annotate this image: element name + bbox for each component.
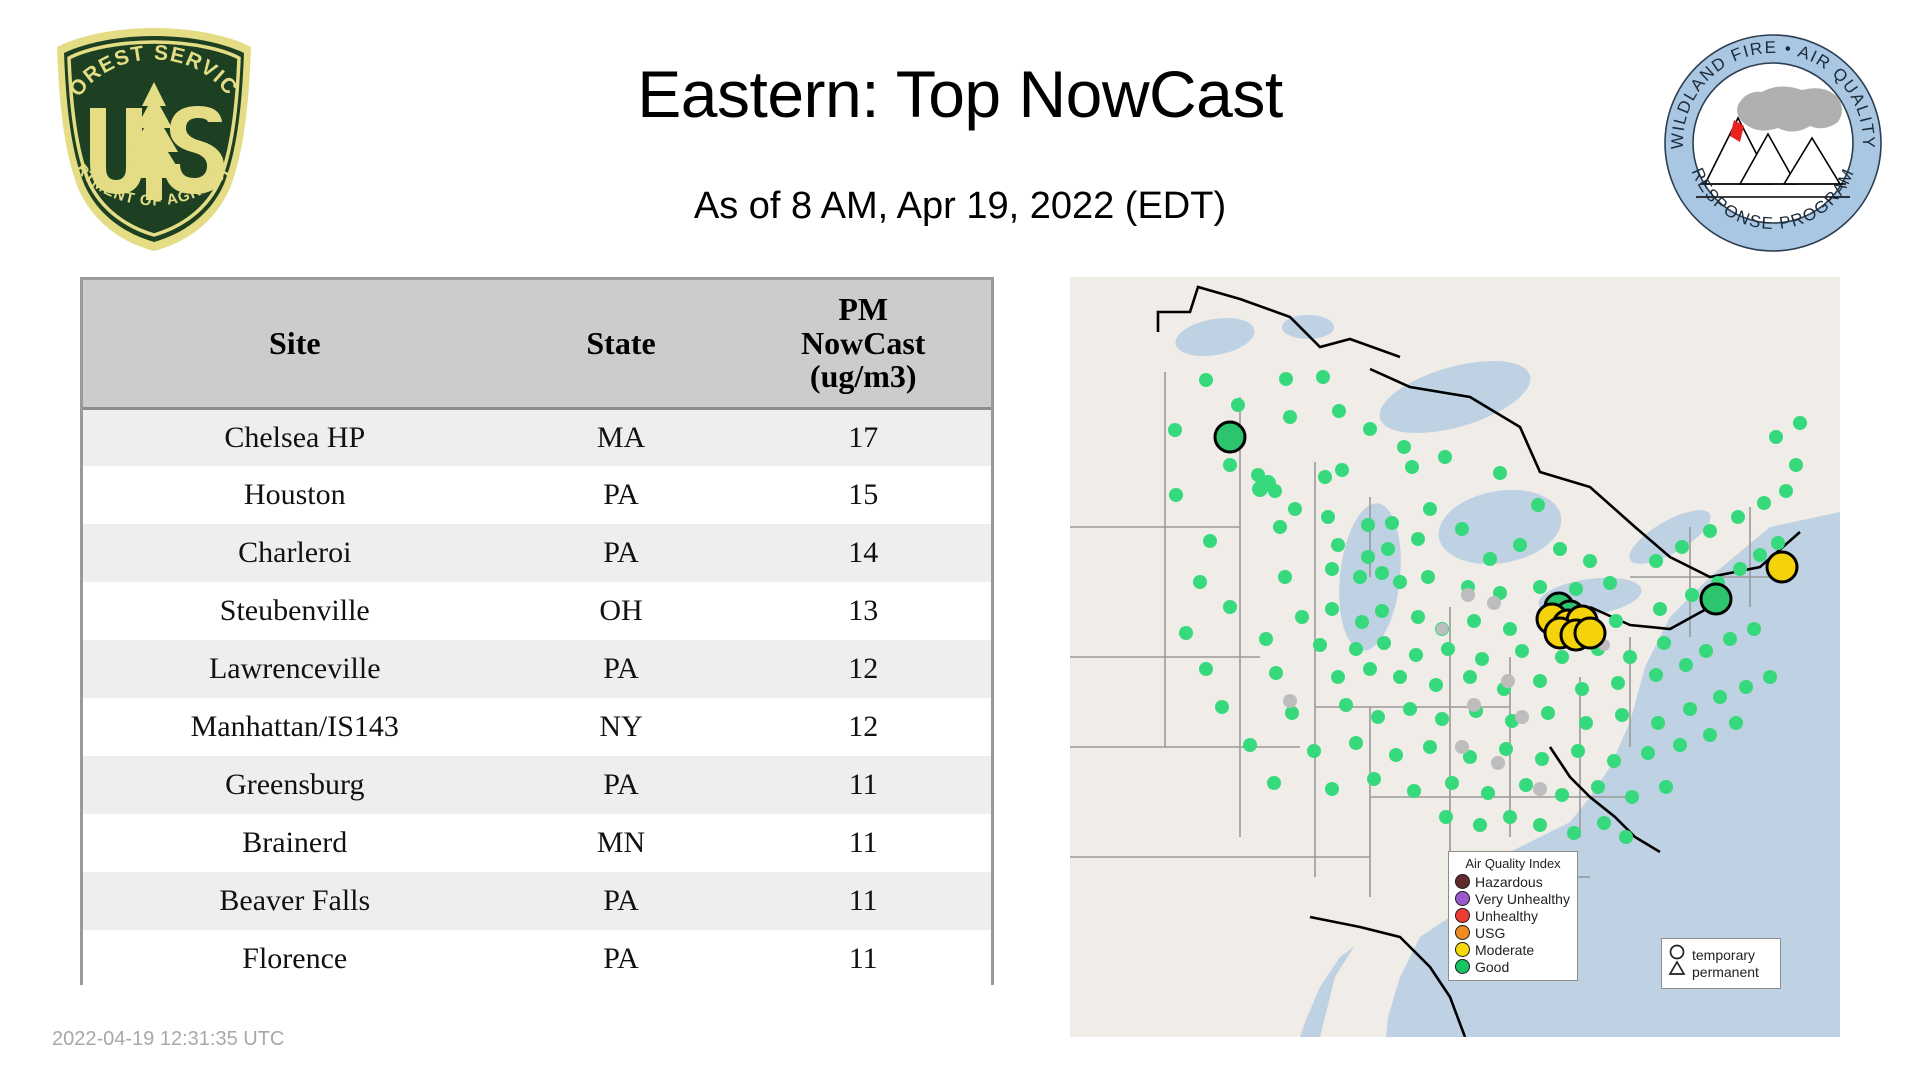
aqi-legend-item: Unhealthy [1455, 907, 1571, 924]
top-nowcast-table-container: Site State PM NowCast (ug/m3) Chelsea HP… [80, 277, 994, 985]
permanent-triangle-icon [1670, 962, 1684, 974]
table-cell-site: Manhattan/IS143 [83, 698, 507, 756]
table-row[interactable]: LawrencevillePA12 [83, 640, 991, 698]
table-cell-pm: 17 [735, 408, 991, 466]
aqi-legend-label: USG [1475, 925, 1505, 941]
top-site-marker-brainerd-mn[interactable] [1215, 422, 1245, 452]
aqi-legend-item: Very Unhealthy [1455, 890, 1571, 907]
table-cell-state: NY [507, 698, 736, 756]
table-cell-state: PA [507, 756, 736, 814]
table-cell-state: MA [507, 408, 736, 466]
top-site-marker-manhattan-is143-ny[interactable] [1701, 584, 1731, 614]
pm-header-line-1: PM [739, 293, 987, 326]
column-header-state: State [507, 280, 736, 408]
table-cell-site: Florence [83, 930, 507, 988]
table-cell-site: Charleroi [83, 524, 507, 582]
aqi-legend-swatch [1455, 925, 1470, 940]
page-subtitle: As of 8 AM, Apr 19, 2022 (EDT) [0, 185, 1920, 228]
top-site-marker-greensburg-pa[interactable] [1575, 618, 1605, 648]
table-row[interactable]: GreensburgPA11 [83, 756, 991, 814]
aqi-legend-label: Moderate [1475, 942, 1534, 958]
aqi-legend-title: Air Quality Index [1455, 856, 1571, 871]
generated-timestamp: 2022-04-19 12:31:35 UTC [52, 1028, 284, 1051]
table-cell-site: Houston [83, 466, 507, 524]
aqi-legend-item: USG [1455, 924, 1571, 941]
aqi-legend-label: Unhealthy [1475, 908, 1538, 924]
table-cell-state: PA [507, 930, 736, 988]
marker-legend-label: temporary [1692, 947, 1759, 964]
table-cell-site: Greensburg [83, 756, 507, 814]
aqi-legend: Air Quality Index HazardousVery Unhealth… [1448, 851, 1578, 981]
table-cell-pm: 12 [735, 640, 991, 698]
table-cell-pm: 11 [735, 756, 991, 814]
table-row[interactable]: Manhattan/IS143NY12 [83, 698, 991, 756]
table-header-row: Site State PM NowCast (ug/m3) [83, 280, 991, 408]
table-cell-pm: 12 [735, 698, 991, 756]
table-cell-state: OH [507, 582, 736, 640]
table-cell-site: Brainerd [83, 814, 507, 872]
aqi-legend-item: Moderate [1455, 941, 1571, 958]
aqi-legend-item: Hazardous [1455, 873, 1571, 890]
table-row[interactable]: SteubenvilleOH13 [83, 582, 991, 640]
marker-legend-shapes [1668, 943, 1688, 984]
table-body: Chelsea HPMA17HoustonPA15CharleroiPA14St… [83, 408, 991, 988]
table-cell-pm: 11 [735, 872, 991, 930]
aqi-legend-label: Hazardous [1475, 874, 1543, 890]
aqi-legend-label: Very Unhealthy [1475, 891, 1570, 907]
table-cell-state: PA [507, 466, 736, 524]
table-cell-pm: 11 [735, 930, 991, 988]
column-header-site: Site [83, 280, 507, 408]
table-cell-state: PA [507, 640, 736, 698]
page-title: Eastern: Top NowCast [0, 56, 1920, 132]
aqi-legend-swatch [1455, 959, 1470, 974]
aqi-legend-swatch [1455, 874, 1470, 889]
table-row[interactable]: Beaver FallsPA11 [83, 872, 991, 930]
table-row[interactable]: CharleroiPA14 [83, 524, 991, 582]
pm-header-line-2: NowCast [739, 327, 987, 360]
pm-header-line-3: (ug/m3) [739, 360, 987, 393]
table-cell-site: Chelsea HP [83, 408, 507, 466]
top-nowcast-table: Site State PM NowCast (ug/m3) Chelsea HP… [83, 280, 991, 988]
table-cell-state: PA [507, 524, 736, 582]
table-row[interactable]: Chelsea HPMA17 [83, 408, 991, 466]
top-site-marker-chelsea-hp-ma[interactable] [1767, 552, 1797, 582]
column-header-pm-nowcast: PM NowCast (ug/m3) [735, 280, 991, 408]
marker-type-legend: temporarypermanent [1661, 938, 1781, 989]
aqi-legend-swatch [1455, 891, 1470, 906]
marker-legend-label: permanent [1692, 964, 1759, 981]
table-cell-site: Steubenville [83, 582, 507, 640]
marker-legend-labels: temporarypermanent [1692, 947, 1759, 981]
temporary-circle-icon [1671, 946, 1684, 959]
table-cell-pm: 15 [735, 466, 991, 524]
aqi-legend-item: Good [1455, 958, 1571, 975]
table-cell-pm: 14 [735, 524, 991, 582]
aqi-legend-label: Good [1475, 959, 1509, 975]
table-row[interactable]: FlorencePA11 [83, 930, 991, 988]
aqi-legend-swatch [1455, 942, 1470, 957]
table-cell-pm: 13 [735, 582, 991, 640]
table-cell-site: Lawrenceville [83, 640, 507, 698]
table-header: Site State PM NowCast (ug/m3) [83, 280, 991, 408]
aqi-legend-rows: HazardousVery UnhealthyUnhealthyUSGModer… [1455, 873, 1571, 975]
table-row[interactable]: HoustonPA15 [83, 466, 991, 524]
table-cell-site: Beaver Falls [83, 872, 507, 930]
table-row[interactable]: BrainerdMN11 [83, 814, 991, 872]
table-cell-state: MN [507, 814, 736, 872]
table-cell-pm: 11 [735, 814, 991, 872]
aqi-legend-swatch [1455, 908, 1470, 923]
table-cell-state: PA [507, 872, 736, 930]
